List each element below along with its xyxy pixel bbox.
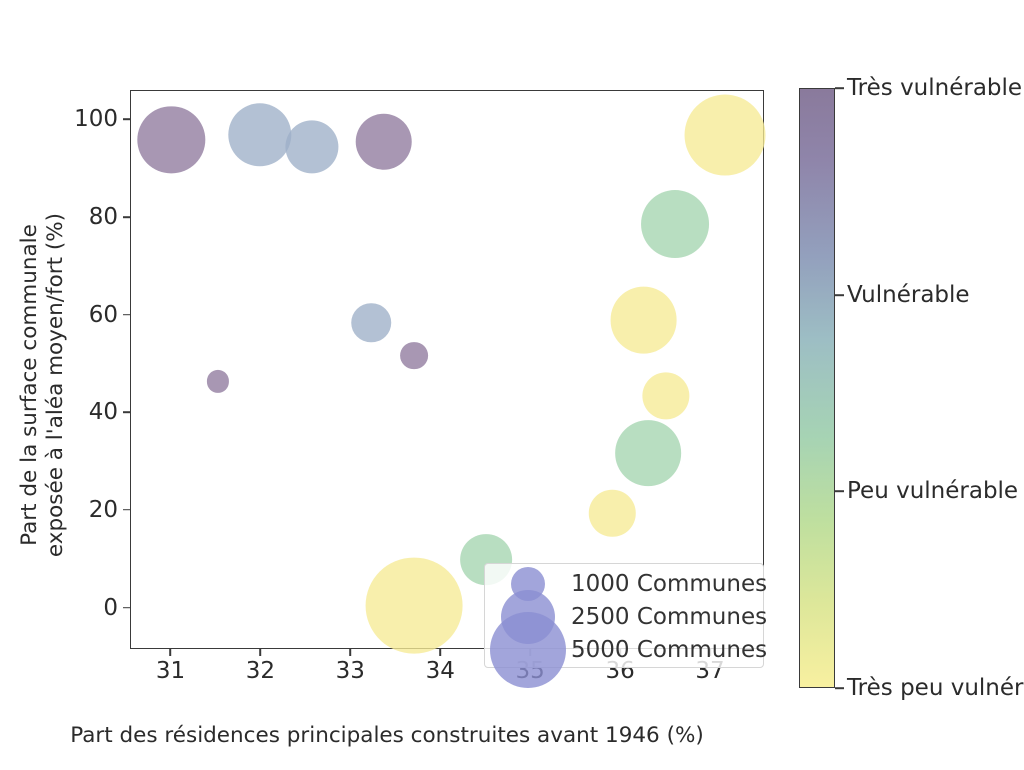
y-tick-label: 40 — [89, 399, 118, 425]
y-tick-mark — [123, 607, 130, 609]
legend-entry[interactable]: 5000 Communes — [485, 633, 763, 666]
colorbar-tick-label: Peu vulnérable — [847, 478, 1018, 504]
colorbar-tick-mark — [835, 490, 844, 492]
x-axis-title: Part des résidences principales construi… — [0, 723, 1024, 748]
y-tick-label: 100 — [74, 106, 118, 132]
data-point-bubble — [589, 490, 635, 536]
data-point-bubble — [685, 94, 766, 175]
data-point-bubble — [610, 287, 677, 354]
x-tick-label: 32 — [246, 658, 275, 684]
x-tick-mark — [170, 649, 172, 656]
x-tick-label: 33 — [336, 658, 365, 684]
legend-label: 2500 Communes — [571, 604, 767, 630]
colorbar-tick-label: Très peu vulnérable — [847, 675, 1024, 701]
x-tick-label: 31 — [156, 658, 185, 684]
data-point-bubble — [400, 342, 428, 370]
y-tick-mark — [123, 411, 130, 413]
x-tick-label: 34 — [426, 658, 455, 684]
y-tick-mark — [123, 118, 130, 120]
data-point-bubble — [228, 103, 291, 166]
colorbar[interactable]: Très vulnérableVulnérablePeu vulnérableT… — [799, 88, 835, 688]
data-point-bubble — [351, 303, 391, 343]
data-point-bubble — [355, 113, 412, 170]
y-tick-mark — [123, 509, 130, 511]
y-tick-label: 20 — [89, 497, 118, 523]
size-legend[interactable]: 1000 Communes2500 Communes5000 Communes — [484, 563, 764, 668]
colorbar-tick-mark — [835, 687, 844, 689]
data-point-bubble — [138, 106, 205, 173]
x-tick-mark — [260, 649, 262, 656]
colorbar-tick-label: Très vulnérable — [847, 75, 1022, 101]
data-point-bubble — [207, 370, 229, 392]
colorbar-tick-label: Vulnérable — [847, 282, 970, 308]
y-axis-title-line2: exposée à l'aléa moyen/fort (%) — [43, 85, 69, 685]
y-axis-title-line1: Part de la surface communale — [17, 85, 43, 685]
colorbar-tick-mark — [835, 294, 844, 296]
colorbar-tick-mark — [835, 87, 844, 89]
legend-label: 5000 Communes — [571, 637, 767, 663]
data-point-bubble — [615, 420, 681, 486]
data-point-bubble — [285, 121, 338, 174]
y-axis-title: Part de la surface communale exposée à l… — [17, 85, 69, 685]
y-tick-label: 60 — [89, 302, 118, 328]
bubble-scatter-figure: 31323334353637 020406080100 Part des rés… — [0, 0, 1024, 770]
y-tick-label: 80 — [89, 204, 118, 230]
data-point-bubble — [641, 190, 709, 258]
y-tick-label: 0 — [103, 595, 118, 621]
x-tick-mark — [350, 649, 352, 656]
colorbar-gradient — [799, 88, 835, 688]
legend-marker-cell — [485, 633, 571, 666]
legend-label: 1000 Communes — [571, 571, 767, 597]
x-axis-title-text: Part des résidences principales construi… — [70, 723, 704, 748]
y-tick-mark — [123, 314, 130, 316]
y-tick-mark — [123, 216, 130, 218]
data-point-bubble — [642, 372, 689, 419]
data-point-bubble — [366, 557, 463, 654]
legend-size-marker — [490, 612, 566, 688]
x-tick-mark — [439, 649, 441, 656]
